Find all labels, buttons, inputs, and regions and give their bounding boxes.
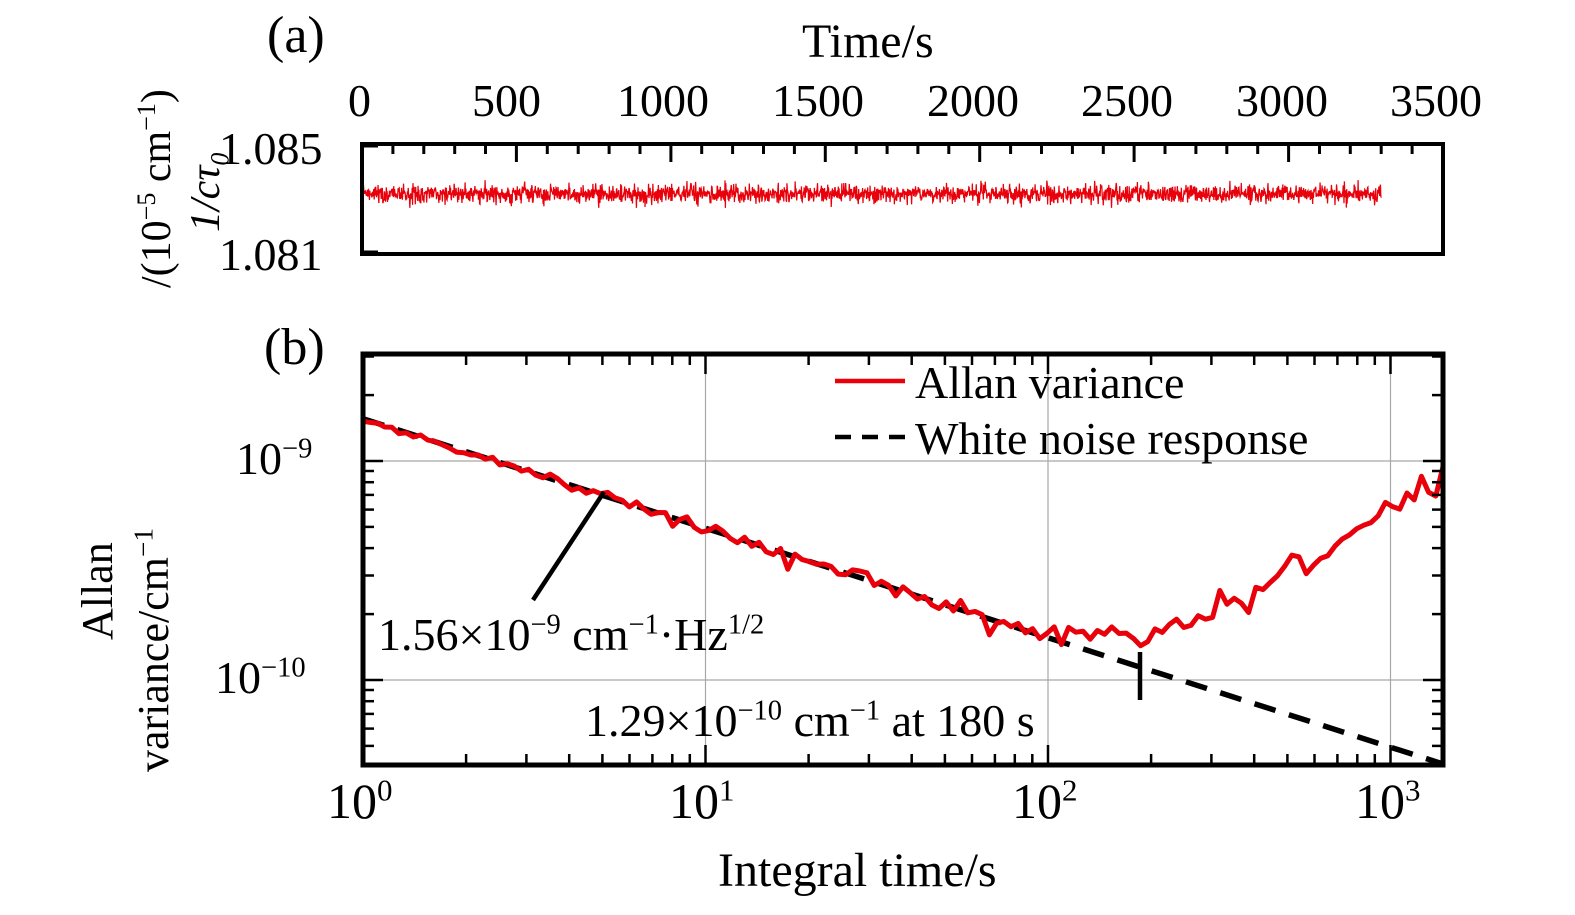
panel-a-tick-3000: 3000 — [1236, 74, 1328, 127]
panel-a-tick-500: 500 — [472, 74, 541, 127]
allan-deviation-figure: (a) Time/s 0 500 1000 1500 2000 2500 300… — [0, 0, 1575, 915]
panel-a-tick-1000: 1000 — [617, 74, 709, 127]
legend-label-allan-variance[interactable]: Allan variance — [915, 356, 1184, 409]
panel-a-tag: (a) — [267, 6, 325, 65]
panel-b-y-axis-label-line1: Allan — [72, 542, 123, 640]
panel-a-top-ticks — [362, 144, 1443, 162]
panel-b-tag: (b) — [264, 318, 325, 377]
panel-b-y-axis-label-line2: variance/cm−1 — [128, 528, 179, 772]
panel-b-xtick-1e0: 100 — [327, 772, 393, 830]
panel-a-y-axis-label-line2-text: /(10−5 cm−1) — [134, 89, 180, 288]
panel-a-group — [362, 144, 1443, 254]
panel-b-ytick-1e-9: 10−9 — [236, 432, 312, 485]
panel-a-tick-0: 0 — [348, 74, 371, 127]
panel-a-y-axis-label-line1-text: 1/cτ0 — [183, 153, 229, 232]
panel-a-y-axis-label-line2: /(10−5 cm−1) — [132, 89, 181, 288]
panel-a-frame — [362, 144, 1443, 254]
panel-a-ytick-lower: 1.081 — [219, 228, 323, 281]
panel-b-y-axis-label-line1-text: Allan — [73, 542, 122, 640]
minimum-annotation: 1.29×10−10 cm−1 at 180 s — [585, 694, 1035, 747]
sensitivity-annotation: 1.56×10−9 cm−1·Hz1/2 — [378, 608, 764, 661]
panel-a-y-axis-label-line1: 1/cτ0 — [182, 153, 235, 232]
panel-a-axis-title: Time/s — [802, 14, 934, 69]
panel-a-trace — [362, 180, 1381, 208]
panel-b-xtick-1e2: 102 — [1012, 772, 1078, 830]
panel-a-tick-2000: 2000 — [927, 74, 1019, 127]
panel-a-tick-3500: 3500 — [1390, 74, 1482, 127]
panel-b-xtick-1e3: 103 — [1355, 772, 1421, 830]
panel-b-axis-title: Integral time/s — [718, 843, 997, 898]
panel-a-tick-1500: 1500 — [772, 74, 864, 127]
panel-a-tick-2500: 2500 — [1081, 74, 1173, 127]
legend-label-white-noise[interactable]: White noise response — [915, 412, 1308, 465]
panel-b-xtick-1e1: 101 — [669, 772, 735, 830]
panel-b-y-axis-label-line2-text: variance/cm−1 — [129, 528, 178, 772]
panel-b-ytick-1e-10: 10−10 — [215, 651, 306, 704]
sensitivity-leader-line — [533, 492, 604, 600]
